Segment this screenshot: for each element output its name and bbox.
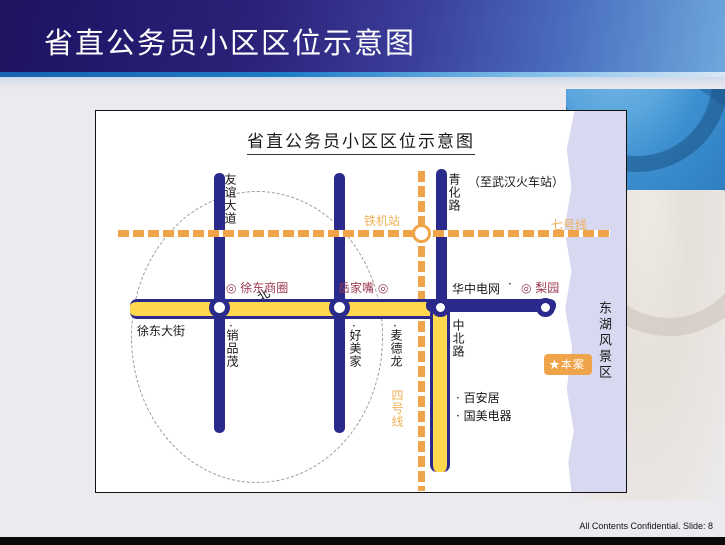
bullet-baianju: · xyxy=(456,391,464,405)
label-qinghua-lu: 青化路 xyxy=(448,173,460,212)
label-station-tiejizhan: 铁机站 xyxy=(364,212,400,229)
label-xudong-dajie: 徐东大街 xyxy=(137,322,185,339)
label-station-xudong-shangquan: ◎ 徐东商圈 xyxy=(226,279,288,296)
label-maidelong: 麦德龙 xyxy=(390,329,402,368)
junction-node-liyuan xyxy=(536,298,555,317)
footer-confidential-text: All Contents Confidential. Slide: 8 xyxy=(579,521,713,531)
map-title: 省直公务员小区区位示意图 xyxy=(96,127,626,152)
road-qinghua-lu xyxy=(436,169,447,314)
title-band-fade xyxy=(0,77,725,89)
road-xudong-dajie-inner-ring xyxy=(130,299,450,319)
benan-label: 本案 xyxy=(561,358,585,371)
label-station-liyuan: ◎ 梨园 xyxy=(521,279,559,296)
rail-line-4 xyxy=(418,171,425,491)
road-zhongbei-lu-inner-ring xyxy=(430,307,450,472)
label-zhongbei-lu: 中北路 xyxy=(452,319,464,358)
junction-node-qinghua xyxy=(431,298,450,317)
east-lake-label: 东湖风景区 xyxy=(593,301,612,381)
slide-canvas: 省直公务员小区区位示意图 东湖风景区 省直公务员小区区位示意图 北 xyxy=(0,0,725,545)
label-baianju-text: 百安居 xyxy=(464,391,500,405)
label-rail-line-7: 七号线 xyxy=(551,216,587,233)
label-gomei: · 国美电器 xyxy=(456,407,512,424)
rail-line-7 xyxy=(118,230,610,237)
label-youyi-dadao: 友谊大道 xyxy=(224,173,236,225)
label-baianju: · 百安居 xyxy=(456,389,500,406)
label-huazhong-bullet: · xyxy=(508,277,512,291)
label-station-yuejiazui: 岳家嘴 ◎ xyxy=(338,279,388,296)
star-icon: ★ xyxy=(549,358,561,371)
label-to-wuhan-railway-station: （至武汉火车站） xyxy=(468,173,564,190)
label-haomeijia: 好美家 xyxy=(349,329,361,368)
junction-node-xudong xyxy=(209,297,230,318)
footer-bar xyxy=(0,537,725,545)
label-rail-line-4: 四号线 xyxy=(391,389,403,428)
label-xiaopinmao: 销品茂 xyxy=(226,329,238,368)
junction-node-tiejizhan xyxy=(412,224,431,243)
label-gomei-text: 国美电器 xyxy=(464,409,512,423)
bullet-gomei: · xyxy=(456,409,464,423)
junction-node-yuejiazui xyxy=(329,297,350,318)
east-lake-region xyxy=(548,111,626,492)
label-huazhong-power-grid: 华中电网 xyxy=(452,280,500,297)
benan-highlight-badge[interactable]: ★本案 xyxy=(544,354,592,375)
map-frame: 东湖风景区 省直公务员小区区位示意图 北 xyxy=(95,110,627,493)
map-title-text: 省直公务员小区区位示意图 xyxy=(247,132,475,155)
page-title: 省直公务员小区区位示意图 xyxy=(44,20,416,62)
